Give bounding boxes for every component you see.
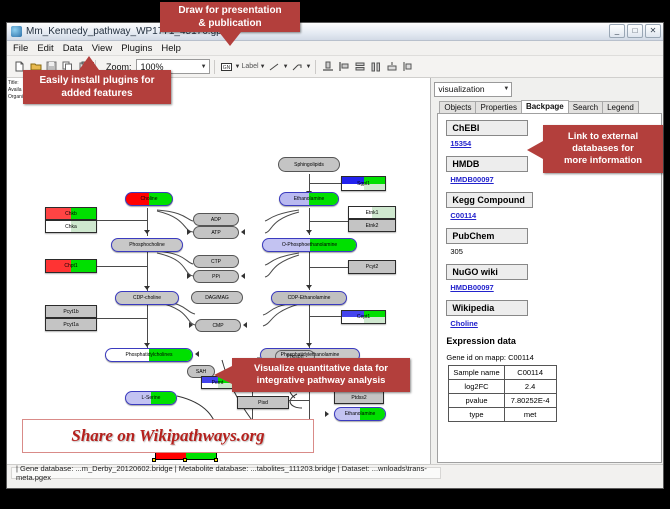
toolbar-separator — [214, 60, 215, 74]
callout-link-line1: Link to external — [568, 131, 638, 143]
selection-handle[interactable] — [183, 458, 187, 462]
node-label: Pcyt1b — [63, 309, 78, 315]
line-dropdown[interactable]: ▼ — [267, 59, 289, 74]
node-label: Etnk2 — [366, 223, 379, 229]
node-ethanolamine-bottom[interactable]: Ethanolamine — [334, 407, 386, 421]
table-row: Sample name C00114 — [449, 366, 556, 380]
callout-link: Link to external databases for more info… — [543, 125, 663, 173]
table-row: log2FC 2.4 — [449, 380, 556, 394]
callout-visualize-arrow-icon — [214, 366, 232, 384]
arrowhead-icon — [243, 322, 247, 328]
tab-properties[interactable]: Properties — [475, 101, 521, 113]
chevron-down-icon: ▼ — [503, 86, 509, 92]
callout-draw: Draw for presentation & publication — [160, 2, 300, 32]
node-label: ATP — [211, 230, 220, 236]
node-chpt1[interactable]: Chpt1 — [45, 259, 97, 273]
minimize-button[interactable]: _ — [609, 24, 625, 38]
node-label: Phosphatidylcholines — [126, 352, 173, 358]
chevron-down-icon: ▼ — [306, 64, 312, 70]
wikipedia-link[interactable]: Choline — [450, 319, 653, 328]
hmdb-header: HMDB — [446, 156, 528, 172]
pathway-canvas[interactable]: Title: Availa Organi — [7, 78, 431, 464]
node-label: SAH — [196, 369, 206, 375]
expression-table: Sample name C00114 log2FC 2.4 pvalue 7.8… — [448, 365, 556, 422]
datanode-icon[interactable]: GN — [219, 59, 234, 74]
node-phosphocholine[interactable]: Phosphocholine — [111, 238, 183, 252]
callout-link-line2: databases for — [572, 143, 634, 155]
menu-plugins[interactable]: Plugins — [121, 43, 152, 54]
arrowhead-icon — [241, 229, 245, 235]
svg-text:GN: GN — [222, 65, 230, 71]
node-chka[interactable]: Chka — [45, 220, 97, 233]
node-label: PPi — [212, 274, 220, 280]
visualization-value: visualization — [438, 84, 484, 94]
table-row: type met — [449, 408, 556, 422]
callout-visualize-line2: integrative pathway analysis — [257, 375, 386, 387]
selection-handle[interactable] — [214, 458, 218, 462]
side-tabs: Objects Properties Backpage Search Legen… — [431, 98, 663, 113]
node-dagmag[interactable]: DAG/MAG — [191, 291, 243, 304]
distribute-icon[interactable] — [368, 59, 383, 74]
node-adp[interactable]: ADP — [193, 213, 239, 226]
node-label: CDP-choline — [133, 295, 161, 301]
selection-handle[interactable] — [152, 458, 156, 462]
menu-edit[interactable]: Edit — [37, 43, 53, 54]
arrowhead-icon — [187, 229, 191, 235]
callout-draw-line1: Draw for presentation — [178, 4, 281, 17]
expression-data-heading: Expression data — [446, 336, 653, 346]
callout-visualize: Visualize quantitative data for integrat… — [232, 358, 410, 392]
node-atp[interactable]: ATP — [193, 226, 239, 239]
tab-objects[interactable]: Objects — [439, 101, 476, 113]
node-label: Chpt1 — [64, 263, 77, 269]
nugo-link[interactable]: HMDB00097 — [450, 283, 653, 292]
node-ctp[interactable]: CTP — [193, 255, 239, 268]
pubchem-header: PubChem — [446, 228, 528, 244]
node-label: Ethanolamine — [345, 411, 376, 417]
menu-help[interactable]: Help — [161, 43, 181, 54]
node-sgpl1[interactable]: Sgpl1 — [341, 176, 386, 191]
node-sphingolipids[interactable]: Sphingolipids — [278, 157, 340, 172]
kegg-header: Kegg Compound — [446, 192, 533, 208]
node-pcyt2[interactable]: Pcyt2 — [348, 260, 396, 274]
label-dropdown-text: Label — [241, 63, 258, 70]
arrowhead-icon — [241, 273, 245, 279]
node-label: Etnk1 — [366, 210, 379, 216]
cell-value: C00114 — [504, 366, 556, 380]
node-pcyt1b[interactable]: Pcyt1b — [45, 305, 97, 318]
share-banner: Share on Wikipathways.org — [22, 419, 314, 453]
kegg-link[interactable]: C00114 — [450, 211, 653, 220]
nugo-header: NuGO wiki — [446, 264, 528, 280]
node-label: CDP-Ethanolamine — [288, 295, 331, 301]
node-choline-top[interactable]: Choline — [125, 192, 173, 206]
node-ethanolamine-top[interactable]: Ethanolamine — [279, 192, 339, 206]
node-label: Cept1 — [357, 314, 370, 320]
callout-draw-line2: & publication — [198, 17, 261, 30]
application-icon — [11, 26, 22, 37]
node-chkb[interactable]: Chkb — [45, 207, 97, 220]
node-label: CMP — [212, 323, 223, 329]
node-cept1[interactable]: Cept1 — [341, 310, 386, 324]
menu-view[interactable]: View — [92, 43, 112, 54]
statusbar: | Gene database: ...m_Derby_20120602.bri… — [7, 464, 663, 480]
datanode-dropdown[interactable]: GN ▼ — [219, 59, 241, 74]
arrow-shape-icon[interactable] — [290, 59, 305, 74]
tab-legend[interactable]: Legend — [602, 101, 639, 113]
node-label: Chka — [65, 224, 77, 230]
hmdb-link[interactable]: HMDB00097 — [450, 175, 653, 184]
pubchem-value: 305 — [450, 247, 653, 256]
node-pisd[interactable]: Pisd — [237, 396, 289, 409]
node-pcyt1a[interactable]: Pcyt1a — [45, 318, 97, 331]
cell-label: log2FC — [449, 380, 504, 394]
node-label: ADP — [211, 217, 221, 223]
node-label: Ethanolamine — [294, 196, 325, 202]
visualization-combo[interactable]: visualization ▼ — [434, 82, 512, 97]
arrowhead-icon — [195, 351, 199, 357]
node-o-phosphoethanolamine[interactable]: O-Phosphoethanolamine — [262, 238, 357, 252]
menu-data[interactable]: Data — [63, 43, 83, 54]
node-etnk1[interactable]: Etnk1 — [348, 206, 396, 219]
chevron-down-icon: ▼ — [283, 64, 289, 70]
shape-dropdown[interactable]: ▼ — [290, 59, 312, 74]
arrowhead-icon — [187, 273, 191, 279]
node-label: O-Phosphoethanolamine — [282, 242, 337, 248]
node-label: Sgpl1 — [357, 181, 370, 187]
node-label: Phosphocholine — [129, 242, 165, 248]
node-label: Pcyt1a — [63, 322, 78, 328]
node-etnk2[interactable]: Etnk2 — [348, 219, 396, 232]
node-cmp[interactable]: CMP — [195, 319, 241, 332]
window-controls: _ □ ✕ — [609, 24, 661, 38]
node-ptdss2[interactable]: Ptdss2 — [334, 391, 384, 404]
line-icon[interactable] — [267, 59, 282, 74]
cell-label: type — [449, 408, 504, 422]
callout-plugins-arrow-stem — [84, 62, 94, 74]
table-row: pvalue 7.80252E-4 — [449, 394, 556, 408]
chevron-down-icon: ▼ — [260, 64, 266, 70]
chebi-header: ChEBI — [446, 120, 528, 136]
tab-backpage[interactable]: Backpage — [521, 100, 569, 113]
stack-icon[interactable] — [384, 59, 399, 74]
label-dropdown[interactable]: Label ▼ — [241, 63, 265, 70]
node-label: CTP — [211, 259, 221, 265]
arrowhead-icon — [325, 411, 329, 417]
align-bottom-icon[interactable] — [320, 59, 335, 74]
cell-value: 7.80252E-4 — [504, 394, 556, 408]
arrowhead-icon — [189, 322, 193, 328]
statusbar-text: | Gene database: ...m_Derby_20120602.bri… — [11, 467, 441, 479]
node-label: Pcyt2 — [366, 264, 379, 270]
node-label: Sphingolipids — [294, 162, 324, 168]
callout-draw-arrow-icon — [219, 32, 241, 46]
chevron-down-icon: ▼ — [235, 64, 241, 70]
cell-value: met — [504, 408, 556, 422]
menubar: File Edit Data View Plugins Help — [7, 41, 663, 56]
node-phosphatidylcholines[interactable]: Phosphatidylcholines — [105, 348, 193, 362]
chevron-down-icon: ▼ — [201, 64, 207, 70]
node-label: Choline — [141, 196, 158, 202]
align-left-icon[interactable] — [336, 59, 351, 74]
node-l-serine-left[interactable]: L-Serine — [125, 391, 177, 405]
node-label: L-Serine — [142, 395, 161, 401]
menu-file[interactable]: File — [13, 43, 28, 54]
cell-label: Sample name — [449, 366, 504, 380]
node-cdp-ethanolamine[interactable]: CDP-Ethanolamine — [271, 291, 347, 305]
node-ppi[interactable]: PPi — [193, 270, 239, 283]
node-label: Pisd — [258, 400, 268, 406]
window-titlebar: Mm_Kennedy_pathway_WP1771_45176.gpml _ □… — [7, 23, 663, 41]
visualization-row: visualization ▼ — [431, 78, 663, 98]
callout-plugins-line1: Easily install plugins for — [39, 74, 154, 87]
callout-visualize-line1: Visualize quantitative data for — [254, 363, 388, 375]
order-icon[interactable] — [400, 59, 415, 74]
callout-link-arrow-icon — [527, 141, 543, 159]
close-button[interactable]: ✕ — [645, 24, 661, 38]
toolbar-separator — [315, 60, 316, 74]
gene-id-line: Gene id on mapp: C00114 — [446, 353, 653, 362]
align-rows-icon[interactable] — [352, 59, 367, 74]
tab-search[interactable]: Search — [568, 101, 603, 113]
callout-plugins-line2: added features — [61, 87, 132, 100]
node-label: Chkb — [65, 211, 77, 217]
node-cdp-choline[interactable]: CDP-choline — [115, 291, 179, 305]
wikipedia-header: Wikipedia — [446, 300, 528, 316]
node-label: DAG/MAG — [205, 295, 229, 301]
maximize-button[interactable]: □ — [627, 24, 643, 38]
cell-label: pvalue — [449, 394, 504, 408]
callout-link-line3: more information — [564, 155, 642, 167]
callout-plugins: Easily install plugins for added feature… — [23, 70, 171, 104]
node-label: Ptdss2 — [351, 395, 366, 401]
cell-value: 2.4 — [504, 380, 556, 394]
